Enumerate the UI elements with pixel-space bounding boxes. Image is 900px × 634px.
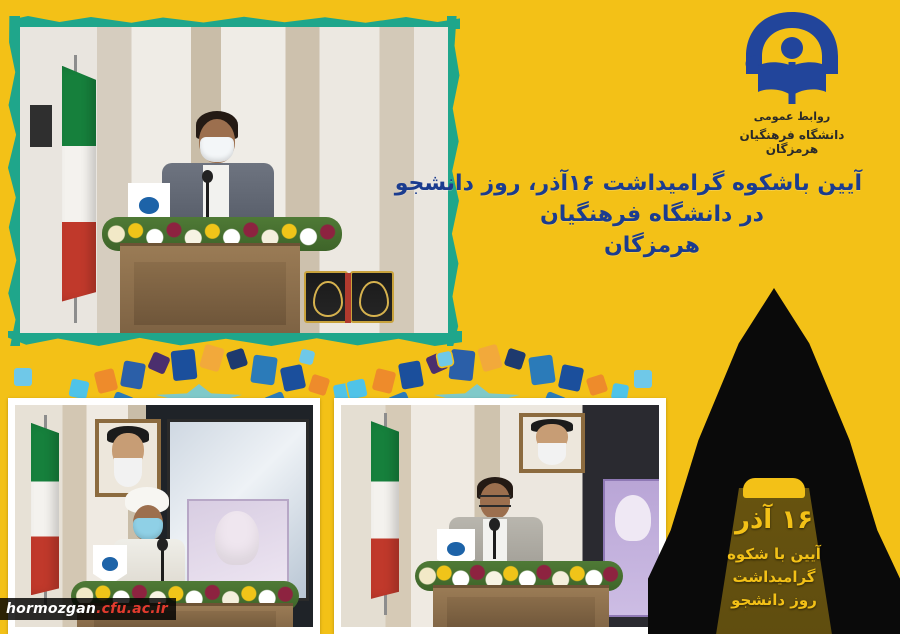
arch-date: ۱۶ آذر bbox=[669, 504, 879, 537]
mosaic-tile bbox=[14, 368, 32, 386]
microphone bbox=[206, 179, 209, 219]
eyeglasses bbox=[479, 495, 511, 507]
islamic-mosaic-band bbox=[0, 338, 660, 400]
hero-photo-frame bbox=[14, 22, 454, 338]
photo-right bbox=[341, 405, 659, 627]
hero-photo bbox=[20, 27, 448, 333]
podium bbox=[433, 585, 609, 627]
arch-line-3: روز دانشجو bbox=[669, 589, 879, 612]
headline-line-3: هرمزگان bbox=[442, 230, 862, 261]
khomeini-portrait bbox=[519, 413, 585, 473]
photo-left bbox=[15, 405, 313, 627]
photo-card-right bbox=[334, 398, 666, 634]
quran-stand-right bbox=[350, 271, 394, 323]
stand-pole bbox=[345, 273, 351, 323]
iran-flag bbox=[367, 413, 401, 615]
banner-portrait-figure bbox=[615, 495, 651, 541]
brush-border-left bbox=[6, 16, 20, 346]
mosaic-tile bbox=[437, 351, 454, 368]
arch-line-2: گرامیداشت bbox=[669, 566, 879, 589]
iran-flag bbox=[27, 415, 61, 611]
headline-line-2: در دانشگاه فرهنگیان bbox=[442, 199, 862, 230]
screen-portrait-figure bbox=[215, 511, 259, 565]
microphone bbox=[493, 527, 496, 559]
iran-flag bbox=[54, 55, 94, 323]
arch-banner-text: ۱۶ آذر آیین با شکوه گرامیداشت روز دانشجو bbox=[669, 504, 879, 612]
spotlight-lamp-icon bbox=[743, 478, 805, 498]
headline-line-1: آیین باشکوه گرامیداشت ۱۶آذر، روز دانشجو bbox=[442, 168, 862, 199]
watermark-domain: .cfu.ac.ir bbox=[96, 601, 168, 617]
wall-panel-dark bbox=[30, 105, 52, 147]
poster-headline: آیین باشکوه گرامیداشت ۱۶آذر، روز دانشجو … bbox=[442, 168, 862, 262]
organization-logo: روابط عمومی دانشگاه فرهنگیان هرمزگان bbox=[736, 8, 848, 158]
podium bbox=[120, 243, 300, 333]
microphone bbox=[161, 547, 164, 581]
university-crest-icon bbox=[736, 8, 848, 112]
quran-stand-left bbox=[304, 271, 348, 323]
site-watermark: hormozgan .cfu.ac.ir bbox=[0, 598, 176, 620]
arch-center-seam bbox=[773, 294, 776, 504]
watermark-site-name: hormozgan bbox=[6, 601, 96, 617]
arch-line-1: آیین با شکوه bbox=[669, 543, 879, 566]
face-mask bbox=[200, 137, 234, 162]
azadi-arch-silhouette: ۱۶ آذر آیین با شکوه گرامیداشت روز دانشجو bbox=[648, 288, 900, 634]
mosaic-fan bbox=[338, 340, 638, 400]
poster-canvas: روابط عمومی دانشگاه فرهنگیان هرمزگان آیی… bbox=[0, 0, 900, 634]
logo-subtitle-line1: روابط عمومی bbox=[736, 110, 848, 123]
khomeini-portrait bbox=[95, 419, 161, 497]
logo-subtitle-line2: دانشگاه فرهنگیان هرمزگان bbox=[736, 128, 848, 156]
mosaic-fan bbox=[60, 340, 360, 400]
